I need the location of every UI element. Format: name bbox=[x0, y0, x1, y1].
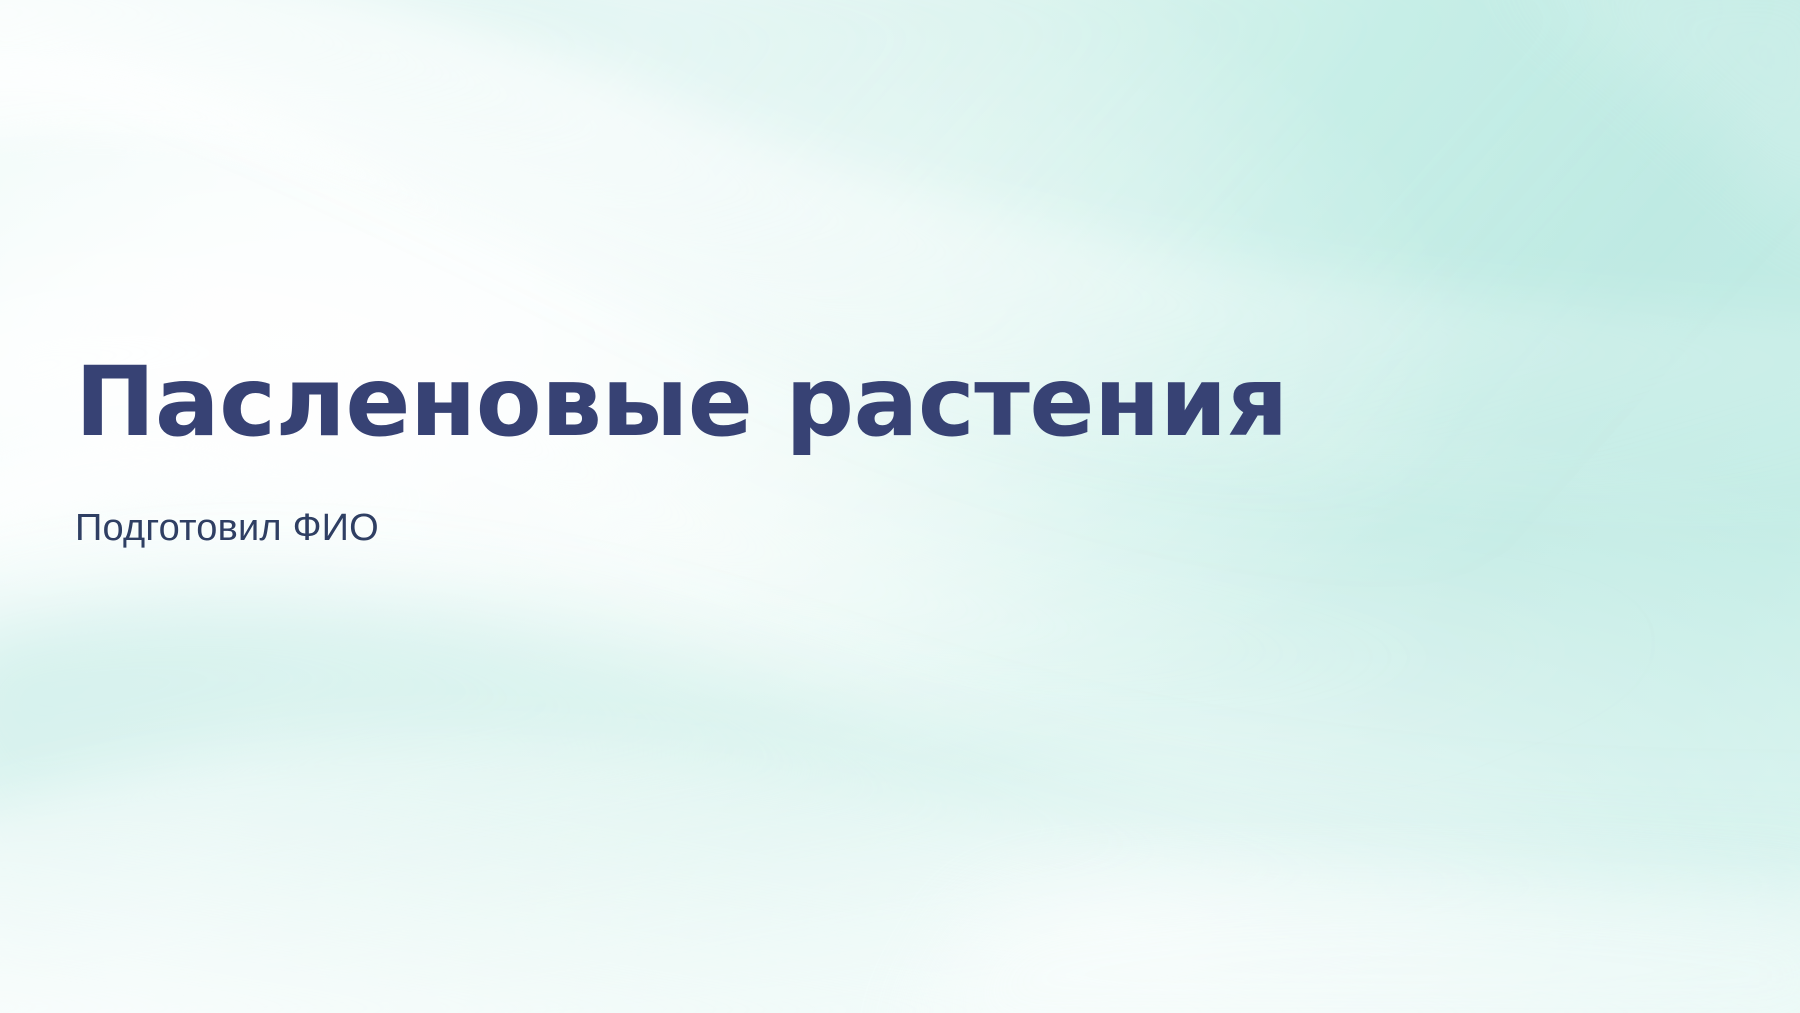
slide-content: Пасленовые растения Подготовил ФИО bbox=[75, 352, 1575, 551]
page-title: Пасленовые растения bbox=[75, 352, 1575, 454]
title-slide: Пасленовые растения Подготовил ФИО bbox=[0, 0, 1800, 1013]
slide-subtitle-author: Подготовил ФИО bbox=[75, 506, 1575, 552]
